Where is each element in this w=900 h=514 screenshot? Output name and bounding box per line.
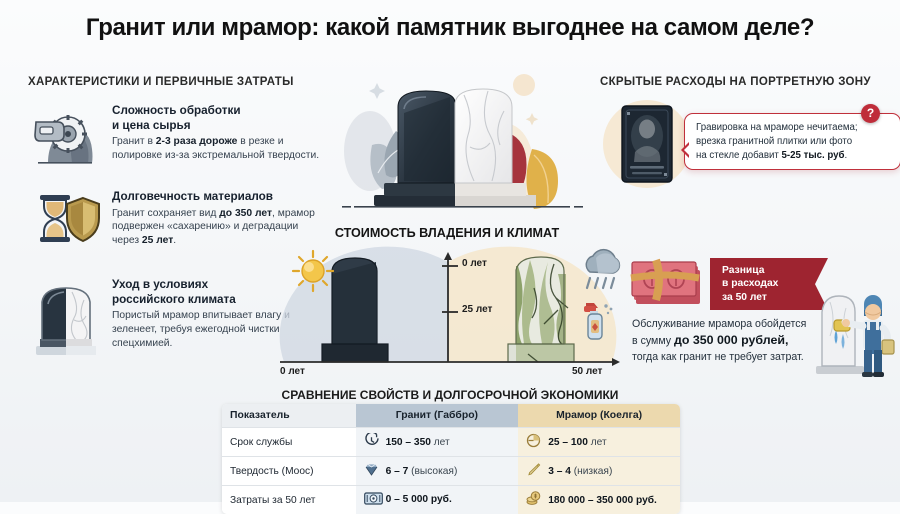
right-section-heading: СКРЫТЫЕ РАСХОДЫ НА ПОРТРЕТНУЮ ЗОНУ bbox=[600, 76, 871, 88]
granite-unit: (высокая) bbox=[408, 466, 457, 477]
tooltip-line-1: Гравировка на мраморе нечитаема; bbox=[696, 121, 890, 135]
table-heading: СРАВНЕНИЕ СВОЙСТВ И ДОЛГОСРОЧНОЙ ЭКОНОМИ… bbox=[220, 388, 680, 402]
rain-cloud-icon bbox=[576, 248, 628, 299]
granite-unit: лет bbox=[431, 437, 450, 448]
hero-monument-illustration bbox=[336, 55, 588, 230]
col-header-metric: Показатель bbox=[222, 404, 356, 428]
marble-value: 25 – 100 bbox=[548, 437, 588, 448]
spray-bottle-icon bbox=[578, 294, 624, 347]
ribbon-line-2: в расходах bbox=[722, 277, 808, 290]
left-section-heading: ХАРАКТЕРИСТИКИ И ПЕРВИЧНЫЕ ЗАТРАТЫ bbox=[28, 76, 294, 88]
tooltip-line-2: врезка гранитной плитки или фото bbox=[696, 135, 890, 149]
cash-stack-icon bbox=[630, 258, 706, 315]
row-label: Твердость (Моос) bbox=[222, 457, 356, 486]
col-header-granite: Гранит (Габбро) bbox=[356, 404, 519, 428]
question-badge-icon[interactable]: ? bbox=[861, 104, 880, 123]
marble-cell: 25 – 100 лет bbox=[518, 428, 680, 457]
desc-pre: Гранит сохраняет вид bbox=[112, 208, 219, 219]
tooltip-line3-pre: на стекле добавит bbox=[696, 150, 782, 161]
coins-icon bbox=[526, 491, 543, 509]
col-header-marble: Мрамор (Коелга) bbox=[518, 404, 680, 428]
x-tick-50: 50 лет bbox=[572, 366, 602, 377]
y-tick-0: 0 лет bbox=[462, 258, 487, 269]
note-bold: до 350 000 рублей, bbox=[674, 333, 788, 347]
note-post: тогда как гранит не требует затрат. bbox=[632, 351, 804, 363]
tooltip-line3-bold: 5-25 тыс. руб bbox=[782, 150, 845, 161]
banknote-icon bbox=[364, 492, 381, 508]
desc-bold2: 25 лет bbox=[142, 235, 173, 246]
granite-cell: 6 – 7 (высокая) bbox=[356, 457, 519, 486]
table-row: Твердость (Моос) 6 – 7 (высокая) 3 – 4 (… bbox=[222, 457, 680, 486]
difference-ribbon: Разница в расходах за 50 лет bbox=[710, 258, 828, 310]
clock-arrow-icon bbox=[364, 433, 381, 451]
table-row: Затраты за 50 лет 0 – 5 000 руб. 180 000… bbox=[222, 486, 680, 514]
feature-description: Гранит в 2-3 раза дороже в резке и полир… bbox=[112, 135, 328, 163]
hourglass-and-shield-icon bbox=[28, 190, 108, 253]
marble-value: 180 000 – 350 000 руб. bbox=[548, 495, 657, 506]
page-title: Гранит или мрамор: какой памятник выгодн… bbox=[0, 14, 900, 42]
feature-title: Долговечность материалов bbox=[112, 190, 328, 205]
diamond-icon bbox=[364, 462, 381, 480]
table-row: Срок службы 150 – 350 лет 25 – 100 лет bbox=[222, 428, 680, 457]
marble-unit: лет bbox=[588, 437, 607, 448]
granite-cell: 0 – 5 000 руб. bbox=[356, 486, 519, 514]
infographic-canvas: Гранит или мрамор: какой памятник выгодн… bbox=[0, 0, 900, 502]
circular-saw-cutting-stone-icon bbox=[28, 106, 100, 173]
sun-icon bbox=[290, 248, 336, 299]
feature-block-processing: Сложность обработки и цена сырья Гранит … bbox=[28, 104, 328, 163]
maintenance-cost-note: Обслуживание мрамора обойдется в сумму д… bbox=[632, 317, 810, 366]
x-tick-0: 0 лет bbox=[280, 366, 305, 377]
pie-clock-icon bbox=[526, 433, 543, 451]
feature-title-line2: российского климата bbox=[112, 293, 236, 306]
desc-pre: Гранит в bbox=[112, 136, 156, 147]
row-label: Затраты за 50 лет bbox=[222, 486, 356, 514]
marble-cell: 180 000 – 350 000 руб. bbox=[518, 486, 680, 514]
two-tone-headstone-icon bbox=[28, 280, 104, 365]
marble-value: 3 – 4 bbox=[548, 466, 571, 477]
granite-value: 150 – 350 bbox=[386, 437, 431, 448]
comparison-table: Показатель Гранит (Габбро) Мрамор (Коелг… bbox=[222, 404, 680, 514]
tooltip-line3-post: . bbox=[845, 150, 848, 161]
chart-title: СТОИМОСТЬ ВЛАДЕНИЯ И КЛИМАТ bbox=[282, 226, 612, 240]
tooltip-line-3: на стекле добавит 5-25 тыс. руб. bbox=[696, 149, 890, 163]
granite-value: 0 – 5 000 руб. bbox=[386, 494, 452, 505]
pencil-icon bbox=[526, 462, 543, 480]
marble-unit: (низкая) bbox=[571, 466, 612, 477]
row-label: Срок службы bbox=[222, 428, 356, 457]
marble-cell: 3 – 4 (низкая) bbox=[518, 457, 680, 486]
y-tick-25: 25 лет bbox=[462, 304, 492, 315]
desc-end: . bbox=[173, 235, 176, 246]
feature-title-line1: Сложность обработки bbox=[112, 104, 241, 117]
granite-cell: 150 – 350 лет bbox=[356, 428, 519, 457]
comparison-table-wrapper: Показатель Гранит (Габбро) Мрамор (Коелг… bbox=[222, 404, 680, 514]
desc-bold: до 350 лет bbox=[219, 208, 272, 219]
feature-title-line1: Уход в условиях bbox=[112, 278, 208, 291]
feature-title-line2: и цена сырья bbox=[112, 119, 191, 132]
ribbon-line-1: Разница bbox=[722, 264, 808, 277]
worker-cleaning-headstone-icon bbox=[812, 282, 898, 383]
granite-value: 6 – 7 bbox=[386, 466, 409, 477]
table-header-row: Показатель Гранит (Габбро) Мрамор (Коелг… bbox=[222, 404, 680, 428]
ribbon-line-3: за 50 лет bbox=[722, 291, 808, 304]
desc-bold: 2-3 раза дороже bbox=[156, 136, 238, 147]
